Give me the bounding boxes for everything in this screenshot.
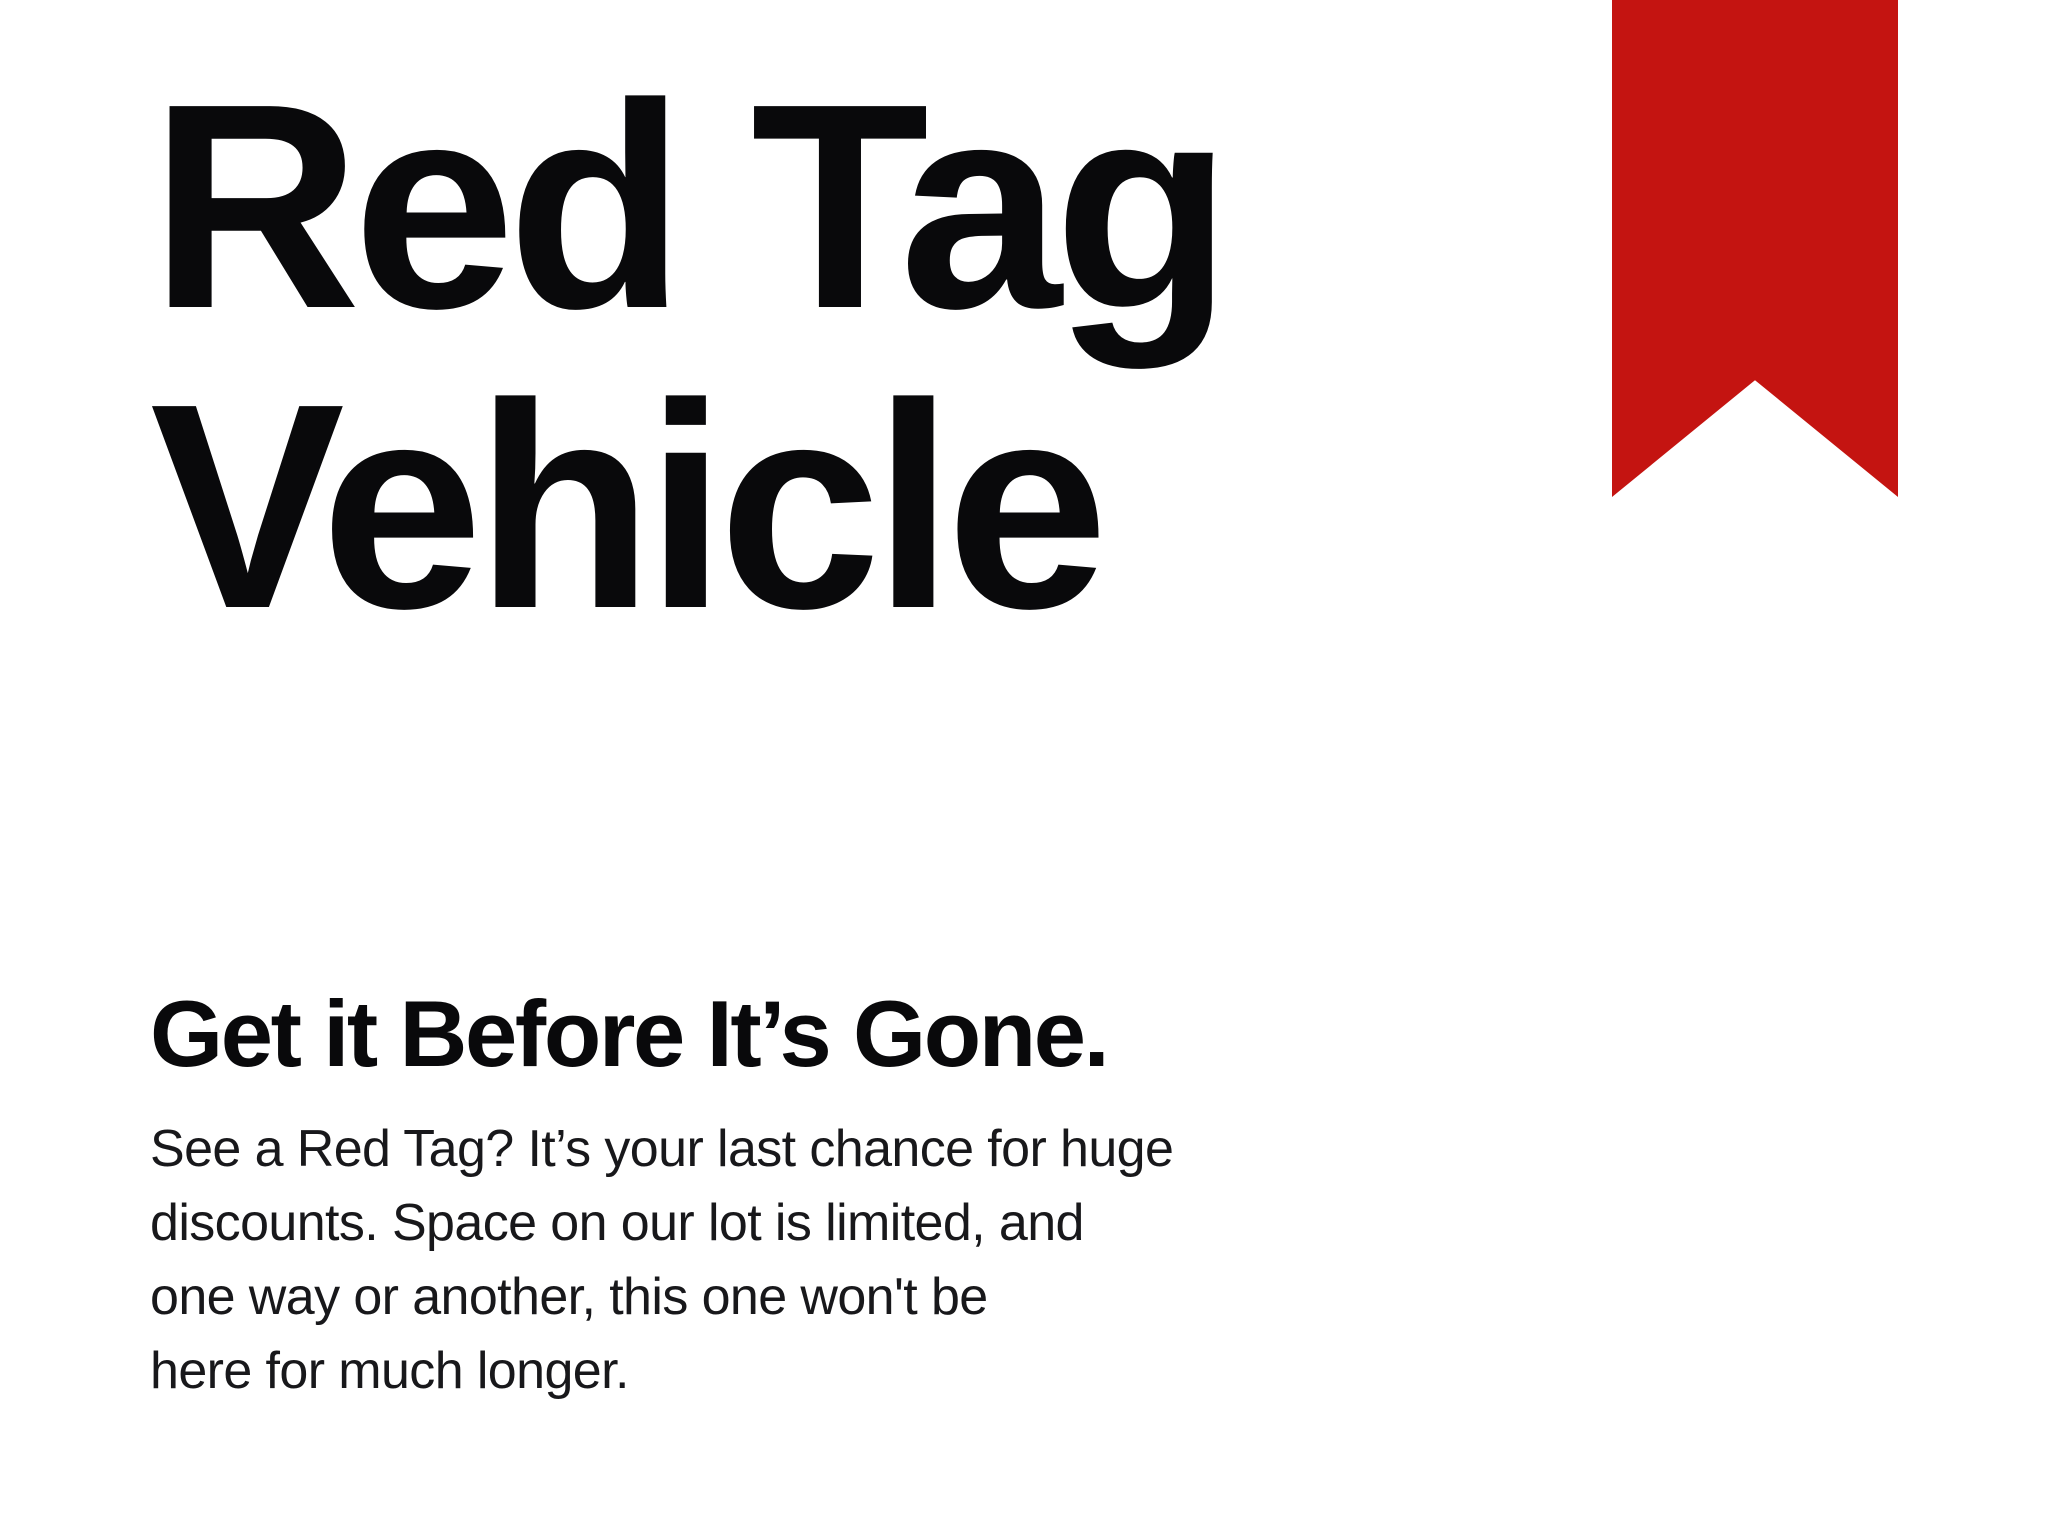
subheading: Get it Before It’s Gone. <box>150 984 1550 1084</box>
red-ribbon-bookmark-icon <box>1612 0 1898 497</box>
body-paragraph: See a Red Tag? It’s your last chance for… <box>150 1112 1300 1408</box>
red-tag-vehicle-promo-poster: Red Tag Vehicle Get it Before It’s Gone.… <box>0 0 2048 1536</box>
page-title: Red Tag Vehicle <box>150 56 1450 656</box>
